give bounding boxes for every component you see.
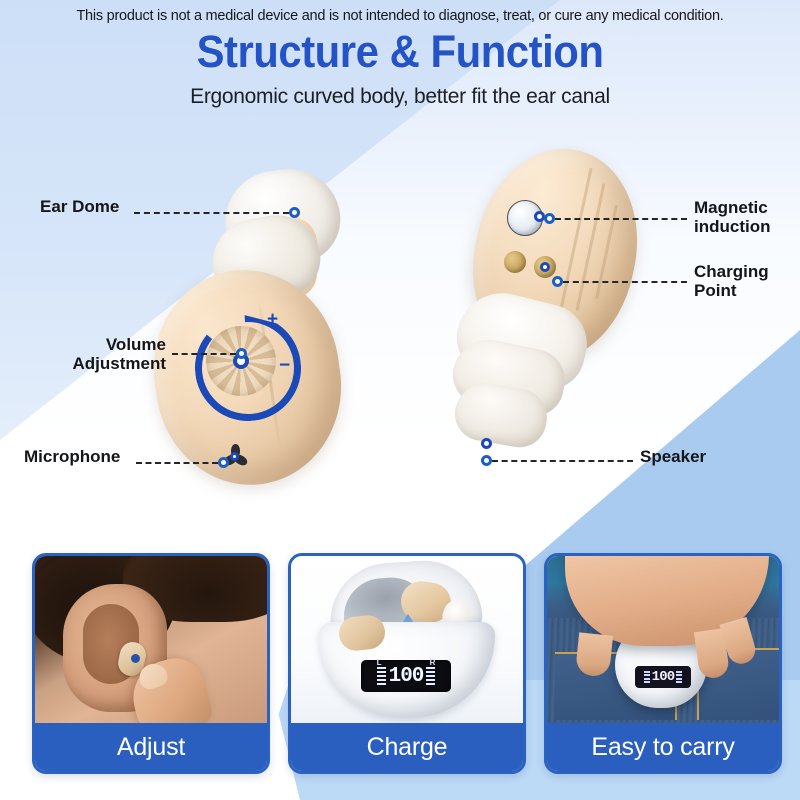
callout-leader-charging-point <box>563 281 687 283</box>
case-led-display: L 100 R <box>361 660 451 692</box>
callout-label-ear-dome: Ear Dome <box>40 197 119 216</box>
callout-anchor-volume-adjustment <box>236 348 247 359</box>
led-left-marker: L <box>377 658 382 667</box>
callout-leader-ear-dome <box>134 212 289 214</box>
feature-card-adjust[interactable]: Adjust <box>32 553 270 774</box>
photo-hearing-aid-dial <box>131 654 140 663</box>
volume-dial[interactable]: + − <box>195 315 287 407</box>
callout-leader-speaker <box>492 460 633 462</box>
callout-anchor-speaker <box>481 455 492 466</box>
led-right-group: R <box>426 667 435 686</box>
header: This product is not a medical device and… <box>0 0 800 109</box>
page-title: Structure & Function <box>28 29 772 75</box>
microphone-marker-dot <box>230 452 239 461</box>
feature-card-easy-to-carry[interactable]: 100 Easy to carry <box>544 553 782 774</box>
callout-label-magnetic-induction: Magnetic induction <box>694 198 770 237</box>
led-right-bars <box>426 667 435 686</box>
speaker-marker-dot <box>481 438 492 449</box>
page-subtitle: Ergonomic curved body, better fit the ea… <box>0 85 800 109</box>
callout-leader-magnetic-induction <box>555 218 687 220</box>
card-caption-easy-to-carry: Easy to carry <box>547 723 779 771</box>
photo-adjust <box>35 556 267 723</box>
photo-charge: L 100 R <box>291 556 523 723</box>
callout-leader-volume-adjustment <box>172 353 236 355</box>
callout-anchor-ear-dome <box>289 207 300 218</box>
feature-card-row: Adjust L 100 <box>0 553 800 771</box>
callout-label-charging-point: Charging Point <box>694 262 769 301</box>
volume-decrease-marker: − <box>279 355 290 377</box>
led-battery-value: 100 <box>389 665 424 688</box>
feature-card-charge[interactable]: L 100 R Charge <box>288 553 526 774</box>
callout-label-speaker: Speaker <box>640 447 706 466</box>
earpiece-front-illustration: + − <box>150 165 390 495</box>
callout-label-volume-adjustment: Volume Adjustment <box>38 335 166 374</box>
charging-pin-left <box>504 251 526 273</box>
card-caption-adjust: Adjust <box>35 723 267 771</box>
charging-point-marker-dot <box>540 262 550 272</box>
card-caption-charge: Charge <box>291 723 523 771</box>
led-left-bars <box>377 667 386 686</box>
led-battery-value: 100 <box>652 669 675 685</box>
led-left-group: L <box>377 667 386 686</box>
callout-anchor-magnetic-induction <box>544 213 555 224</box>
disclaimer-text: This product is not a medical device and… <box>0 0 800 24</box>
led-right-bars <box>676 671 682 684</box>
infographic-root: This product is not a medical device and… <box>0 0 800 800</box>
volume-increase-marker: + <box>267 309 278 331</box>
callout-anchor-microphone <box>218 457 229 468</box>
photo-easy-to-carry: 100 <box>547 556 779 723</box>
callout-leader-microphone <box>136 462 218 464</box>
callout-anchor-charging-point <box>552 276 563 287</box>
case-led-display-small: 100 <box>635 666 691 688</box>
earpiece-back-illustration <box>455 148 685 478</box>
led-right-marker: R <box>430 658 436 667</box>
led-left-bars <box>644 671 650 684</box>
callout-label-microphone: Microphone <box>24 447 120 466</box>
